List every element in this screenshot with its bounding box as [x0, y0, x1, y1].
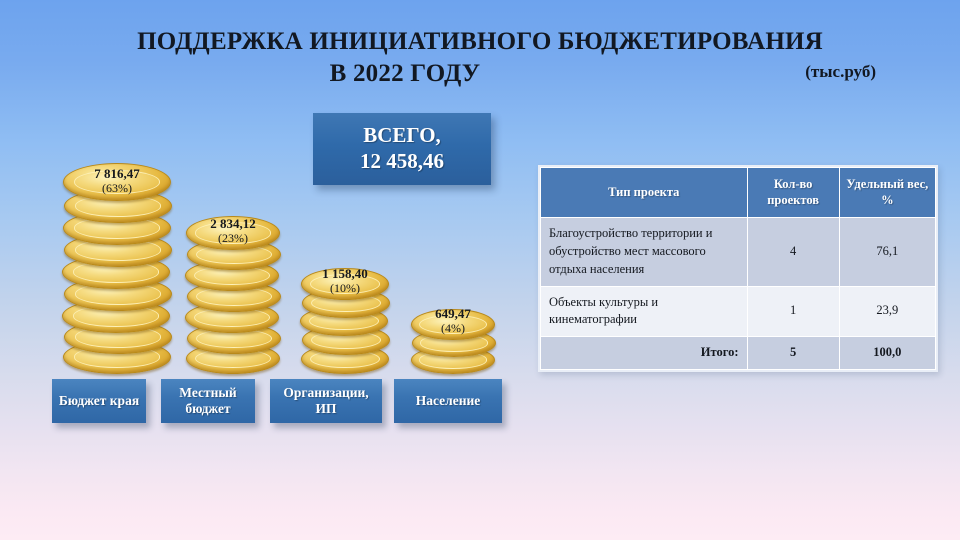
coin-top: [301, 268, 389, 300]
coin-stack-budget-kraya: 7 816,47 (63%): [62, 159, 172, 374]
table-row: Благоустройство территории и обустройств…: [541, 218, 936, 286]
table-header-row: Тип проекта Кол-во проектов Удельный вес…: [541, 168, 936, 218]
total-badge-label: ВСЕГО,: [363, 123, 441, 149]
units-label: (тыс.руб): [805, 62, 876, 82]
project-summary-table: Тип проекта Кол-во проектов Удельный вес…: [538, 165, 938, 372]
category-label-budget-kraya[interactable]: Бюджет края: [52, 379, 146, 423]
coin-top: [411, 309, 495, 340]
coin-top: [63, 163, 171, 201]
table-header-count: Кол-во проектов: [747, 168, 839, 218]
table-total-weight: 100,0: [839, 337, 935, 370]
title-line-1: ПОДДЕРЖКА ИНИЦИАТИВНОГО БЮДЖЕТИРОВАНИЯ: [70, 26, 890, 58]
table-cell-type: Объекты культуры и кинематографии: [541, 286, 748, 337]
table-cell-count: 1: [747, 286, 839, 337]
coin-stack-naselenie: 649,47 (4%): [410, 300, 496, 374]
coin-stack-organizacii-ip: 1 158,40 (10%): [300, 268, 390, 374]
total-badge-value: 12 458,46: [360, 149, 444, 175]
table-header-type: Тип проекта: [541, 168, 748, 218]
page-title: ПОДДЕРЖКА ИНИЦИАТИВНОГО БЮДЖЕТИРОВАНИЯ В…: [70, 26, 890, 90]
slide-root: ПОДДЕРЖКА ИНИЦИАТИВНОГО БЮДЖЕТИРОВАНИЯ В…: [0, 0, 960, 540]
table-header-weight: Удельный вес, %: [839, 168, 935, 218]
table-cell-count: 4: [747, 218, 839, 286]
total-badge: ВСЕГО, 12 458,46: [313, 113, 491, 185]
category-label-organizacii-ip[interactable]: Организации, ИП: [270, 379, 382, 423]
category-label-text: Бюджет края: [59, 393, 139, 409]
category-label-text: Население: [416, 393, 481, 409]
category-label-text: Местный бюджет: [167, 385, 249, 417]
coin-top: [186, 216, 280, 250]
table-cell-weight: 76,1: [839, 218, 935, 286]
table-total-count: 5: [747, 337, 839, 370]
title-line-2: В 2022 ГОДУ: [70, 58, 890, 90]
table-total-label: Итого:: [541, 337, 748, 370]
table-cell-weight: 23,9: [839, 286, 935, 337]
category-label-mestny-budget[interactable]: Местный бюджет: [161, 379, 255, 423]
table-cell-type: Благоустройство территории и обустройств…: [541, 218, 748, 286]
category-label-text: Организации, ИП: [276, 385, 376, 417]
category-label-naselenie[interactable]: Население: [394, 379, 502, 423]
table-row: Объекты культуры и кинематографии 1 23,9: [541, 286, 936, 337]
table-total-row: Итого: 5 100,0: [541, 337, 936, 370]
coin-stack-mestny-budget: 2 834,12 (23%): [185, 216, 281, 374]
